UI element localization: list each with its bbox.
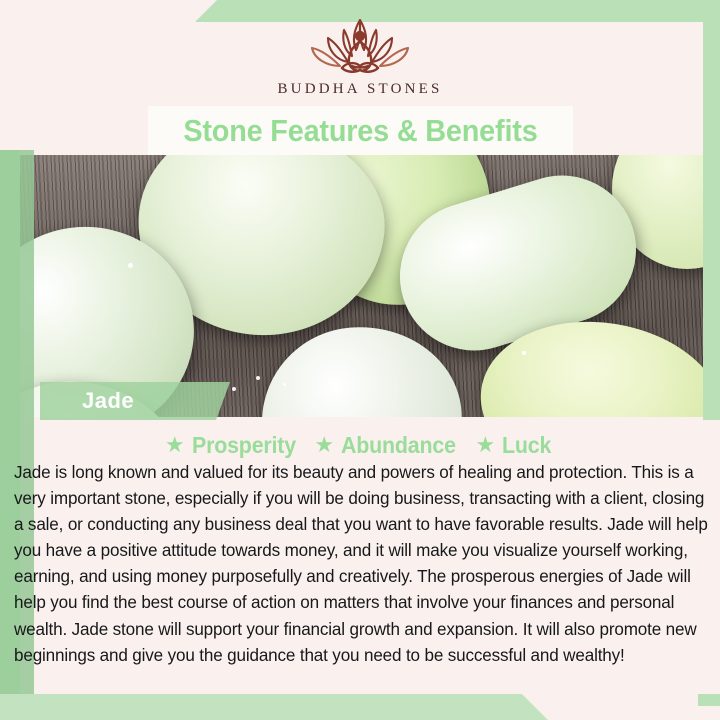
highlight-glint	[283, 383, 286, 386]
stone-photo	[0, 155, 720, 417]
decor-green-bottom-band	[0, 694, 548, 720]
benefit-item: ★ Prosperity	[165, 432, 304, 459]
decor-green-right-strip	[703, 0, 720, 420]
stone-name-label: Jade	[82, 388, 134, 414]
benefit-label: Prosperity	[192, 432, 296, 459]
infographic-page: BUDDHA STONES Stone Features & Benefits …	[0, 0, 720, 720]
title-band: Stone Features & Benefits	[148, 106, 573, 155]
benefit-item: ★ Abundance	[314, 432, 464, 459]
star-icon: ★	[476, 434, 496, 456]
decor-green-bottom-tip	[698, 694, 720, 706]
highlight-glint	[128, 263, 133, 268]
highlight-glint	[232, 387, 236, 391]
benefit-item: ★ Luck	[476, 432, 556, 459]
highlight-glint	[522, 351, 526, 355]
stone-name-badge: Jade	[40, 382, 230, 420]
star-icon: ★	[165, 434, 185, 456]
star-icon: ★	[314, 434, 334, 456]
stone-description: Jade is long known and valued for its be…	[14, 460, 708, 669]
highlight-glint	[256, 376, 260, 380]
brand-header: BUDDHA STONES	[0, 0, 720, 112]
brand-name: BUDDHA STONES	[277, 81, 442, 98]
benefit-label: Abundance	[341, 432, 456, 459]
benefits-row: ★ Prosperity ★ Abundance ★ Luck	[0, 430, 720, 460]
lotus-meditation-icon	[294, 14, 426, 80]
benefit-label: Luck	[502, 432, 551, 459]
page-title: Stone Features & Benefits	[183, 113, 537, 149]
